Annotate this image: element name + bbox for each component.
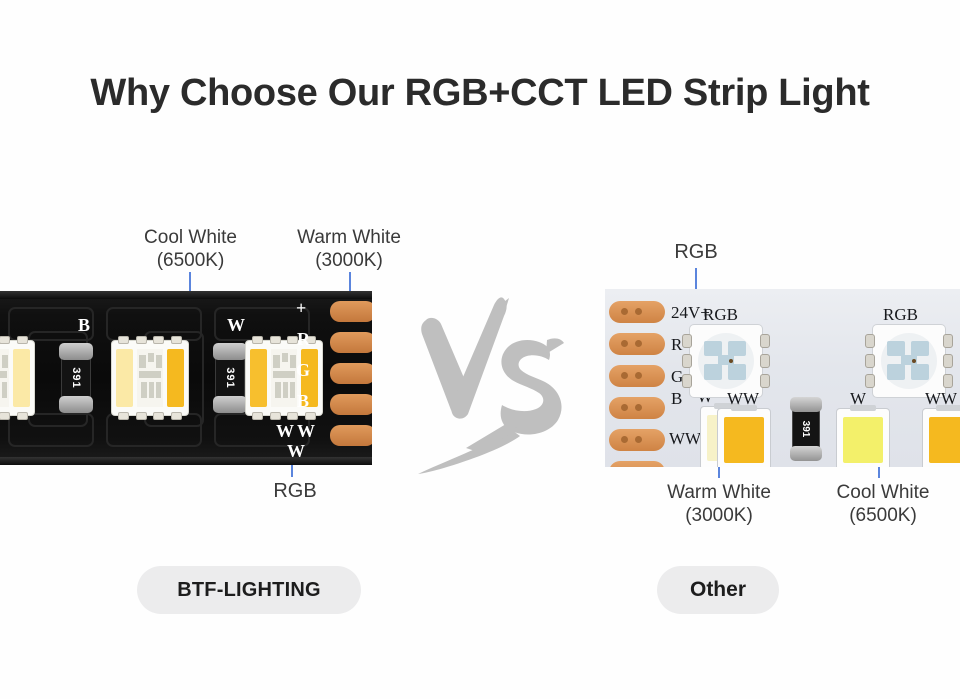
- callout-cool-white-left-line2: (6500K): [118, 249, 263, 272]
- led-package-5in1: [246, 341, 322, 415]
- brand-badge-btf-lighting-label: BTF-LIGHTING: [177, 579, 320, 602]
- led-package-5in1: [0, 341, 34, 415]
- page-title: Why Choose Our RGB+CCT LED Strip Light: [0, 72, 960, 115]
- callout-warm-white-left-line2: (3000K): [275, 249, 423, 272]
- led-pins-bottom: [249, 412, 319, 420]
- callout-cool-white-left-line1: Cool White: [144, 227, 237, 248]
- led-package-cool-white: [837, 409, 889, 467]
- silkscreen-rgb-right-2: RGB: [883, 305, 918, 325]
- led-pins-top: [0, 336, 31, 344]
- callout-cool-white-right-line2: (6500K): [812, 504, 954, 527]
- led-pins-right: [943, 331, 953, 391]
- led-package-rgb: [690, 325, 762, 397]
- callout-rgb-left: RGB: [255, 479, 335, 503]
- brand-badge-other-label: Other: [690, 578, 746, 602]
- led-strip-other: 24V+ R G B WW W RGB WW: [605, 289, 960, 467]
- pad-label-r: R: [671, 335, 682, 355]
- led-pins-left: [682, 331, 692, 391]
- callout-warm-white-right: Warm White (3000K): [644, 481, 794, 527]
- silkscreen-w-left: W: [227, 315, 245, 336]
- callout-warm-white-left: Warm White (3000K): [275, 226, 423, 272]
- resistor-391-code: 391: [46, 364, 106, 392]
- silkscreen-b-left: B: [78, 315, 90, 336]
- led-package-rgb: [873, 325, 945, 397]
- resistor-391: 391: [62, 348, 90, 408]
- pad-label-g: G: [296, 360, 310, 381]
- solder-pad-column-left: [312, 291, 372, 465]
- callout-warm-white-left-line1: Warm White: [297, 227, 401, 248]
- emitter-warm-white: [929, 417, 960, 463]
- pad-label-r: R: [297, 329, 310, 350]
- led-pins-bottom: [115, 412, 185, 420]
- pad-label-w2: W: [297, 421, 315, 442]
- emitter-rgb-lens: [881, 333, 937, 389]
- callout-rgb-right-line1: RGB: [674, 241, 717, 263]
- silkscreen-rgb-right-1: RGB: [703, 305, 738, 325]
- emitter-warm-white: [167, 349, 184, 407]
- callout-cool-white-left: Cool White (6500K): [118, 226, 263, 272]
- callout-rgb-left-line1: RGB: [273, 480, 316, 502]
- emitter-warm-white: [250, 349, 267, 407]
- pad-label-b: B: [671, 389, 682, 409]
- led-pins-bottom: [0, 412, 31, 420]
- callout-cool-white-right-line1: Cool White: [837, 482, 930, 503]
- emitter-warm-white: [724, 417, 764, 463]
- emitter-cool-white: [116, 349, 133, 407]
- resistor-br-code-glyph: 391: [778, 416, 834, 442]
- brand-badge-other[interactable]: Other: [657, 566, 779, 614]
- emitter-rgb-core: [137, 349, 163, 407]
- emitter-cool-white: [843, 417, 883, 463]
- emitter-rgb-core: [0, 349, 9, 407]
- pad-label-b: B: [297, 391, 309, 412]
- emitter-rgb-core: [271, 349, 297, 407]
- led-package-5in1: [112, 341, 188, 415]
- led-pins-right: [760, 331, 770, 391]
- pad-label-ww: WW: [669, 429, 701, 449]
- pad-label-plus: +: [296, 298, 306, 319]
- resistor-br: 391: [793, 401, 819, 457]
- brand-badge-btf-lighting[interactable]: BTF-LIGHTING: [137, 566, 361, 614]
- led-strip-btf-lighting: 391 B 391 W: [0, 291, 372, 465]
- callout-warm-white-right-line2: (3000K): [644, 504, 794, 527]
- vs-graphic: [408, 296, 572, 482]
- emitter-rgb-lens: [698, 333, 754, 389]
- infographic-root: Why Choose Our RGB+CCT LED Strip Light C…: [0, 0, 960, 699]
- emitter-cool-white: [13, 349, 30, 407]
- pad-label-w1: W: [276, 421, 294, 442]
- resistor-391: 391: [216, 348, 244, 408]
- led-pins-top: [115, 336, 185, 344]
- silkscreen-br: BR: [791, 463, 819, 467]
- led-package-warm-white: [923, 409, 960, 467]
- pad-label-w3: W: [287, 441, 305, 462]
- callout-warm-white-right-line1: Warm White: [667, 482, 771, 503]
- led-package-warm-white: [718, 409, 770, 467]
- led-pins-left: [865, 331, 875, 391]
- callout-rgb-right: RGB: [648, 240, 744, 264]
- callout-cool-white-right: Cool White (6500K): [812, 481, 954, 527]
